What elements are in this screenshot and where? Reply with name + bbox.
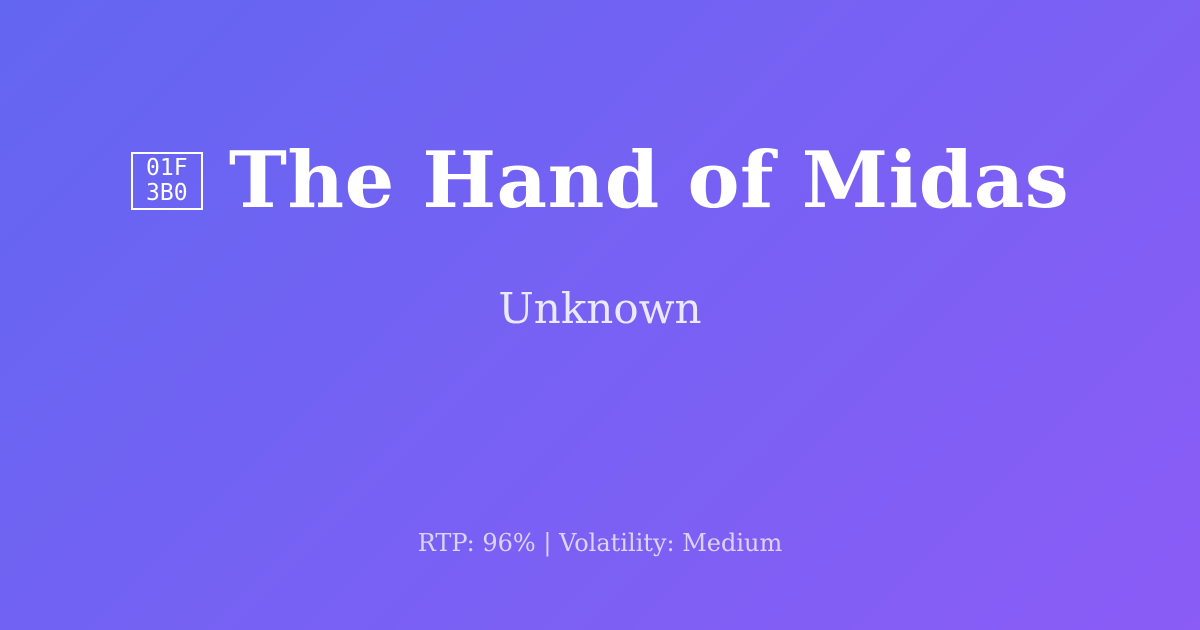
game-stats-text: RTP: 96% | Volatility: Medium xyxy=(418,529,783,557)
title-row: 01F 3B0 The Hand of Midas xyxy=(131,139,1069,223)
hero-block: 01F 3B0 The Hand of Midas Unknown xyxy=(0,0,1200,472)
slot-machine-emoji-icon: 01F 3B0 xyxy=(131,152,203,210)
footer: RTP: 96% | Volatility: Medium xyxy=(0,528,1200,558)
tofu-hex-top: 01F xyxy=(146,156,188,181)
page-title: The Hand of Midas xyxy=(229,139,1069,223)
tofu-hex-bottom: 3B0 xyxy=(146,181,188,206)
game-og-card: 01F 3B0 The Hand of Midas Unknown RTP: 9… xyxy=(0,0,1200,630)
page-subtitle: Unknown xyxy=(498,223,701,333)
